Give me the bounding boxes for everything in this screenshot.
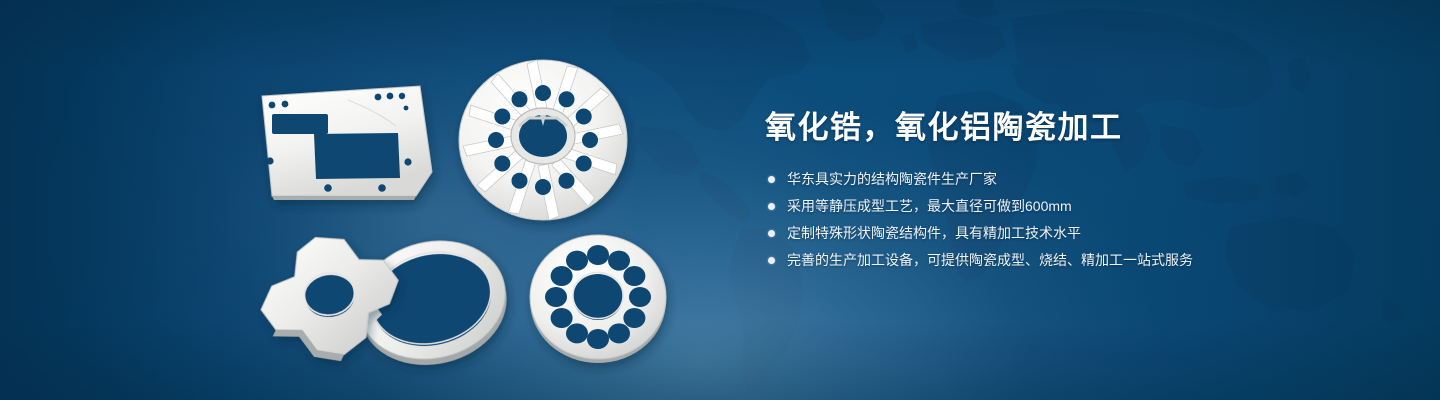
ceramic-perforated-disc xyxy=(530,235,666,363)
list-item: 定制特殊形状陶瓷结构件，具有精加工技术水平 xyxy=(765,224,1385,243)
ceramic-plate-with-cutouts xyxy=(262,86,432,200)
feature-text: 华东具实力的结构陶瓷件生产厂家 xyxy=(787,171,997,187)
feature-text: 采用等静压成型工艺，最大直径可做到600mm xyxy=(787,198,1072,214)
bullet-dot-icon xyxy=(768,203,775,210)
hero-banner: 氧化锆，氧化铝陶瓷加工 华东具实力的结构陶瓷件生产厂家 采用等静压成型工艺，最大… xyxy=(0,0,1440,400)
bullet-dot-icon xyxy=(768,230,775,237)
feature-text: 定制特殊形状陶瓷结构件，具有精加工技术水平 xyxy=(787,225,1081,241)
bullet-dot-icon xyxy=(768,176,775,183)
list-item: 华东具实力的结构陶瓷件生产厂家 xyxy=(765,170,1385,189)
feature-list: 华东具实力的结构陶瓷件生产厂家 采用等静压成型工艺，最大直径可做到600mm 定… xyxy=(765,170,1385,270)
page-title: 氧化锆，氧化铝陶瓷加工 xyxy=(765,108,1385,148)
list-item: 完善的生产加工设备，可提供陶瓷成型、烧结、精加工一站式服务 xyxy=(765,251,1385,270)
ceramic-impeller-rotor xyxy=(459,60,627,220)
bullet-dot-icon xyxy=(768,257,775,264)
feature-text: 完善的生产加工设备，可提供陶瓷成型、烧结、精加工一站式服务 xyxy=(787,252,1193,268)
product-photo-group xyxy=(0,0,760,400)
list-item: 采用等静压成型工艺，最大直径可做到600mm xyxy=(765,197,1385,216)
banner-text-block: 氧化锆，氧化铝陶瓷加工 华东具实力的结构陶瓷件生产厂家 采用等静压成型工艺，最大… xyxy=(765,108,1385,278)
